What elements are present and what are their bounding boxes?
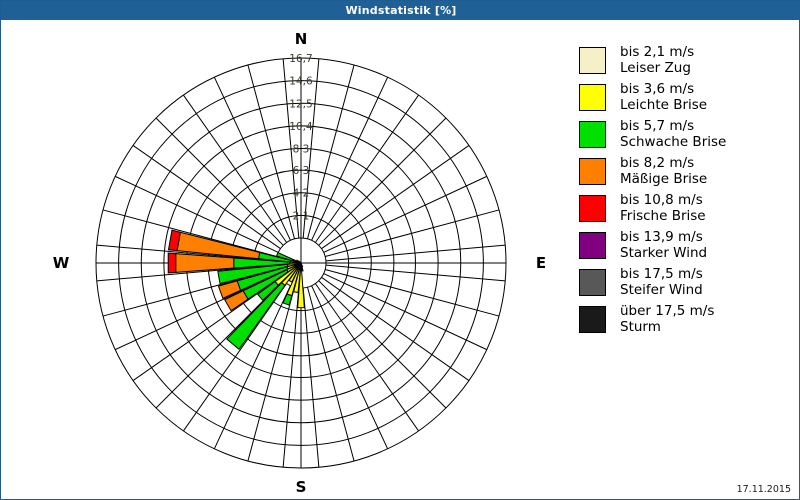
legend-item: bis 3,6 m/sLeichte Brise	[579, 82, 794, 113]
legend-speed-range: über 17,5 m/s	[620, 303, 714, 319]
legend-beaufort-name: Schwache Brise	[620, 135, 726, 151]
radial-tick-label: 14,6	[289, 76, 313, 88]
radial-tick-label: 6,3	[293, 165, 310, 177]
legend-color-swatch	[579, 47, 606, 74]
grid-spoke	[307, 287, 354, 461]
legend-beaufort-name: Steifer Wind	[620, 283, 703, 299]
grid-spoke	[325, 269, 499, 316]
window-title: Windstatistik [%]	[345, 4, 456, 17]
grid-spoke	[214, 286, 290, 449]
legend-label: bis 17,5 m/sSteifer Wind	[620, 267, 703, 298]
grid-spoke	[312, 286, 388, 449]
legend-label: bis 8,2 m/sMäßige Brise	[620, 156, 707, 187]
radial-tick-label: 16,7	[289, 53, 312, 65]
grid-spoke	[248, 65, 295, 239]
legend-label: bis 3,6 m/sLeichte Brise	[620, 82, 707, 113]
legend-color-swatch	[579, 121, 606, 148]
compass-label-east: E	[536, 254, 546, 272]
legend-label: bis 5,7 m/sSchwache Brise	[620, 119, 726, 150]
legend-color-swatch	[579, 269, 606, 296]
legend-speed-range: bis 2,1 m/s	[620, 44, 694, 60]
grid-spoke	[319, 281, 446, 408]
grid-spoke	[312, 77, 388, 240]
compass-label-west: W	[53, 254, 70, 272]
legend-item: bis 17,5 m/sSteifer Wind	[579, 267, 794, 298]
grid-spoke	[214, 77, 290, 240]
legend-label: bis 10,8 m/sFrische Brise	[620, 193, 706, 224]
legend-color-swatch	[579, 306, 606, 333]
polar-grid	[96, 58, 506, 468]
legend-item: bis 8,2 m/sMäßige Brise	[579, 156, 794, 187]
legend-speed-range: bis 5,7 m/s	[620, 118, 694, 134]
grid-spoke	[325, 210, 499, 257]
legend-speed-range: bis 10,8 m/s	[620, 192, 703, 208]
window-title-bar: Windstatistik [%]	[1, 1, 800, 20]
legend-item: bis 10,8 m/sFrische Brise	[579, 193, 794, 224]
grid-spoke	[156, 281, 283, 408]
grid-spoke	[307, 65, 354, 239]
windrose-svg: 2,14,26,38,310,412,514,616,7 NSWE	[1, 20, 566, 500]
legend-item: bis 5,7 m/sSchwache Brise	[579, 119, 794, 150]
legend-color-swatch	[579, 84, 606, 111]
legend-label: bis 13,9 m/sStarker Wind	[620, 230, 707, 261]
radial-tick-label: 4,2	[293, 188, 310, 200]
legend-item: bis 2,1 m/sLeiser Zug	[579, 45, 794, 76]
grid-spoke	[156, 118, 283, 245]
legend-beaufort-name: Sturm	[620, 320, 714, 336]
windrose-chart: 2,14,26,38,310,412,514,616,7 NSWE	[1, 20, 566, 500]
date-stamp: 17.11.2015	[737, 484, 791, 495]
radial-tick-label: 12,5	[289, 98, 312, 110]
legend-color-swatch	[579, 158, 606, 185]
petal-segment	[168, 253, 176, 273]
radial-tick-label: 8,3	[293, 144, 310, 156]
radial-tick-label: 2,1	[293, 210, 310, 222]
grid-spoke	[324, 274, 487, 350]
legend-beaufort-name: Mäßige Brise	[620, 172, 707, 188]
legend-label: über 17,5 m/sSturm	[620, 304, 714, 335]
legend-speed-range: bis 3,6 m/s	[620, 81, 694, 97]
compass-label-south: S	[296, 478, 307, 496]
legend-color-swatch	[579, 195, 606, 222]
legend-speed-range: bis 17,5 m/s	[620, 266, 703, 282]
windrose-window: Windstatistik [%] 2,14,26,38,310,412,514…	[0, 0, 800, 500]
legend-beaufort-name: Starker Wind	[620, 246, 707, 262]
legend-color-swatch	[579, 232, 606, 259]
legend-speed-range: bis 8,2 m/s	[620, 155, 694, 171]
radial-tick-label: 10,4	[289, 121, 313, 133]
legend-speed-range: bis 13,9 m/s	[620, 229, 703, 245]
legend-beaufort-name: Leichte Brise	[620, 98, 707, 114]
grid-spoke	[324, 176, 487, 252]
legend-item: bis 13,9 m/sStarker Wind	[579, 230, 794, 261]
legend-item: über 17,5 m/sSturm	[579, 304, 794, 335]
legend: bis 2,1 m/sLeiser Zugbis 3,6 m/sLeichte …	[579, 45, 794, 341]
legend-beaufort-name: Frische Brise	[620, 209, 706, 225]
legend-label: bis 2,1 m/sLeiser Zug	[620, 45, 694, 76]
legend-beaufort-name: Leiser Zug	[620, 61, 694, 77]
grid-spoke	[319, 118, 446, 245]
compass-label-north: N	[295, 30, 308, 48]
